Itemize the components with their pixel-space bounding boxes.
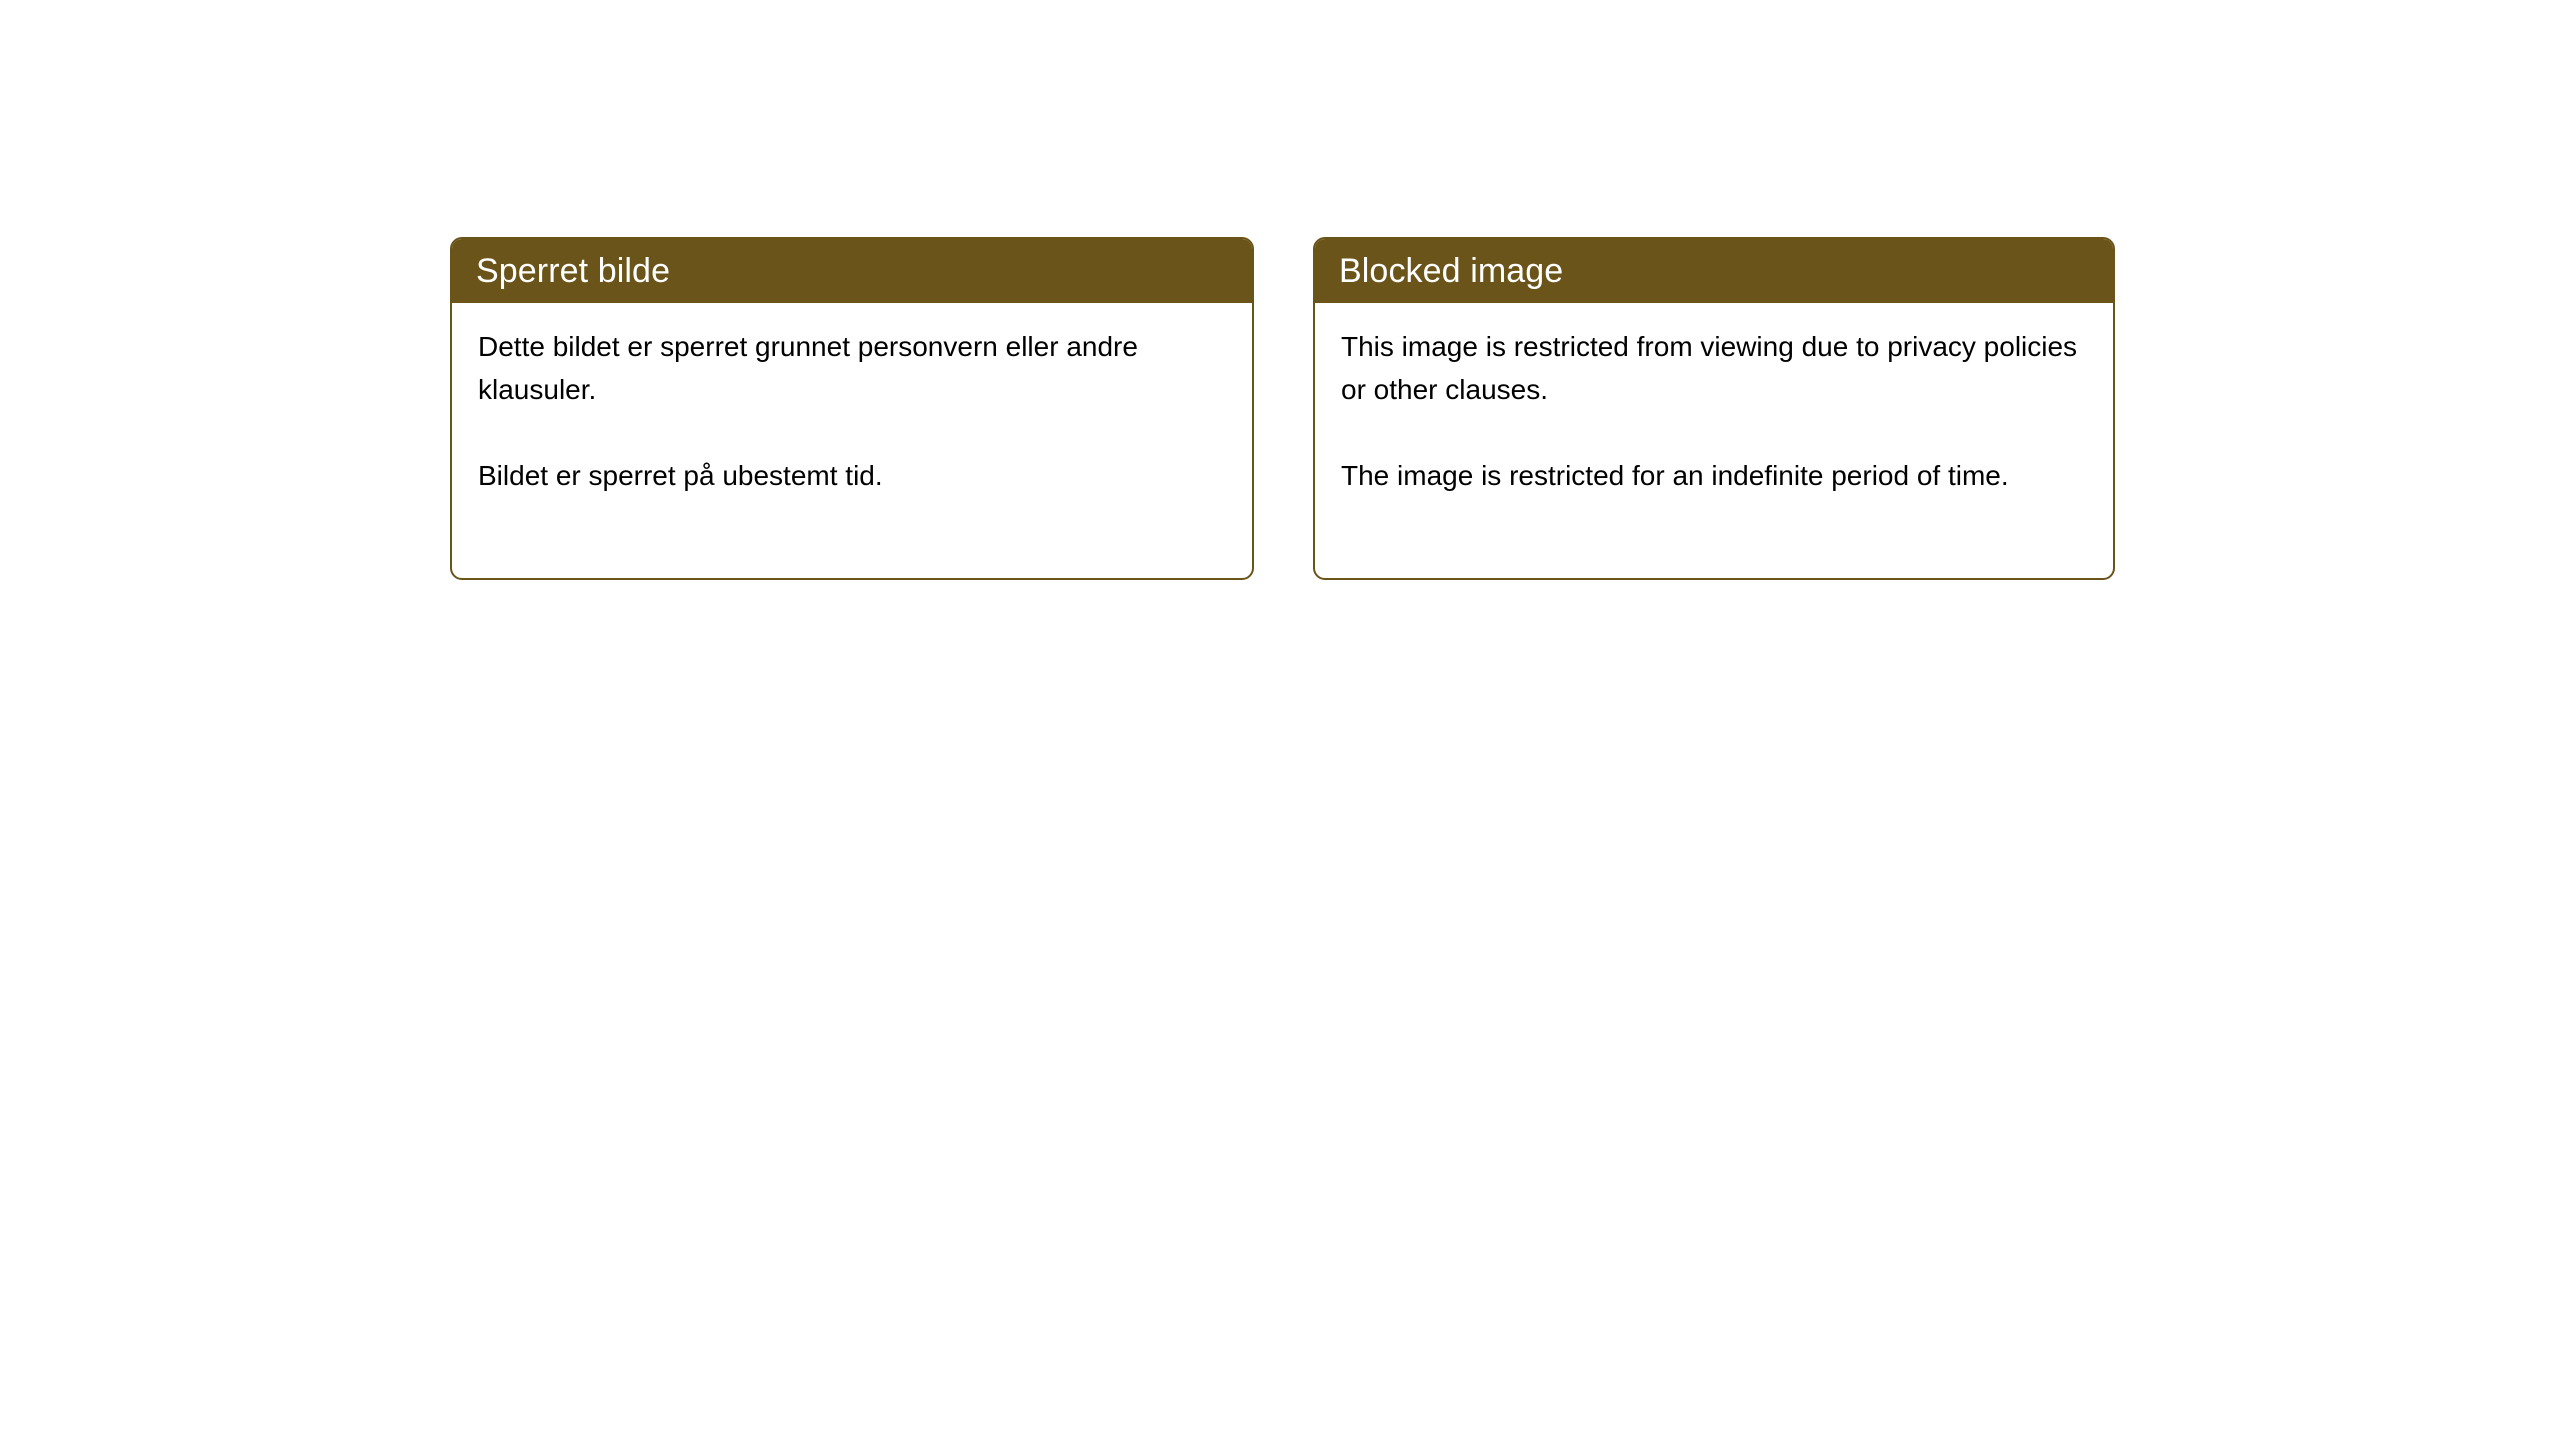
notice-paragraph-duration-norwegian: Bildet er sperret på ubestemt tid. <box>478 454 1178 497</box>
notice-paragraph-duration-english: The image is restricted for an indefinit… <box>1341 454 2087 497</box>
notice-paragraph-reason-english: This image is restricted from viewing du… <box>1341 325 2087 411</box>
notice-title-english: Blocked image <box>1339 252 1563 290</box>
page-root: Sperret bilde Dette bildet er sperret gr… <box>0 0 2560 1440</box>
notice-title-norwegian: Sperret bilde <box>476 252 670 290</box>
notice-header-english: Blocked image <box>1315 239 2113 303</box>
notice-paragraph-reason-norwegian: Dette bildet er sperret grunnet personve… <box>478 325 1178 411</box>
notice-header-norwegian: Sperret bilde <box>452 239 1252 303</box>
blocked-image-notice-norwegian: Sperret bilde Dette bildet er sperret gr… <box>450 237 1254 580</box>
notice-body-english: This image is restricted from viewing du… <box>1315 303 2113 497</box>
notice-body-norwegian: Dette bildet er sperret grunnet personve… <box>452 303 1252 497</box>
blocked-image-notice-english: Blocked image This image is restricted f… <box>1313 237 2115 580</box>
